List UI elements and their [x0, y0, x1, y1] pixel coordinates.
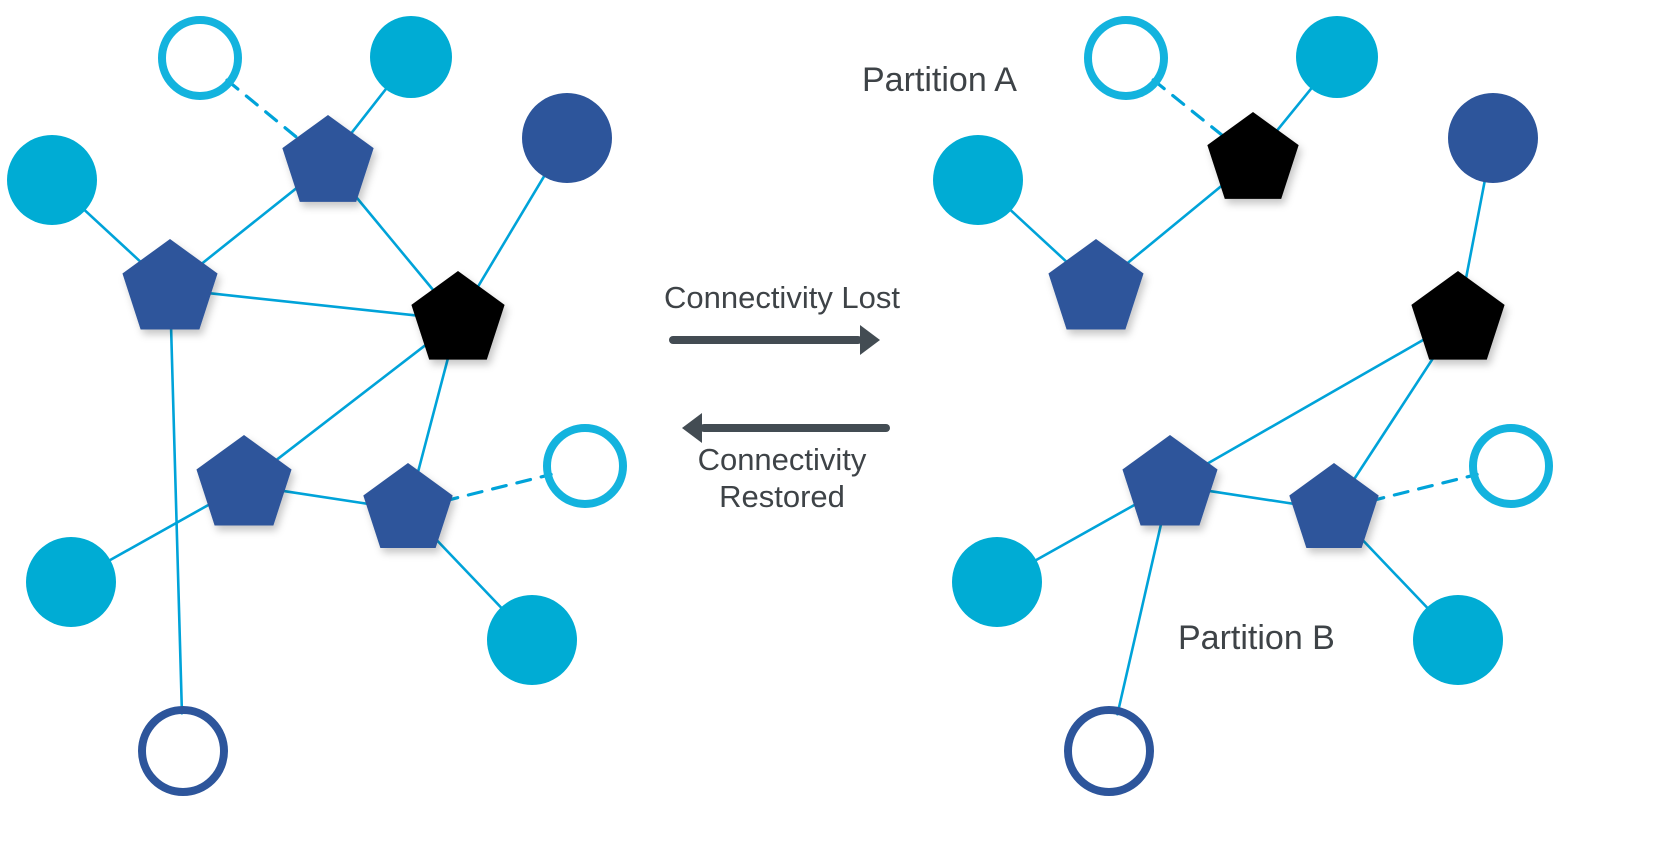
- offline-node-circle-navy[interactable]: [142, 710, 224, 792]
- active-link-edge: [478, 174, 546, 287]
- host-node-circle[interactable]: [487, 595, 577, 685]
- partition-leader-node-pentagon[interactable]: [1411, 271, 1504, 360]
- active-link-edge: [351, 87, 387, 133]
- inactive-link-edge: [227, 80, 299, 139]
- inactive-link-edge: [1370, 474, 1477, 501]
- active-link-edge: [352, 192, 433, 290]
- active-link-edge: [1204, 339, 1424, 465]
- inactive-link-edge: [444, 474, 551, 501]
- inactive-link-edge: [1153, 80, 1223, 136]
- host-node-circle[interactable]: [26, 537, 116, 627]
- host-node-circle-navy[interactable]: [522, 93, 612, 183]
- active-link-edge: [209, 293, 419, 316]
- active-link-edge: [1360, 537, 1430, 610]
- router-node-pentagon[interactable]: [1122, 435, 1217, 525]
- transition-arrows: [673, 325, 886, 443]
- active-link-edge: [434, 537, 504, 610]
- active-link-edge: [275, 344, 427, 461]
- network-partition-diagram: Connectivity Lost Connectivity Restored …: [0, 0, 1656, 856]
- active-link-edge: [1277, 86, 1313, 130]
- router-node-pentagon[interactable]: [363, 463, 452, 548]
- active-link-edge: [82, 208, 141, 262]
- router-node-pentagon[interactable]: [1289, 463, 1378, 548]
- offline-node-circle-navy[interactable]: [1068, 710, 1150, 792]
- right-network-nodes: [933, 16, 1549, 792]
- router-node-pentagon[interactable]: [122, 239, 217, 329]
- active-link-edge: [1008, 208, 1067, 262]
- offline-node-circle-cyan[interactable]: [547, 428, 623, 504]
- connectivity-lost-label: Connectivity Lost: [664, 280, 900, 315]
- active-link-edge: [201, 187, 298, 265]
- diagram-canvas: Connectivity Lost Connectivity Restored …: [0, 0, 1656, 856]
- router-node-pentagon[interactable]: [282, 115, 373, 202]
- router-node-pentagon[interactable]: [196, 435, 291, 525]
- partition-a-label: Partition A: [862, 61, 1017, 99]
- router-node-pentagon[interactable]: [1048, 239, 1143, 329]
- active-link-edge: [283, 491, 371, 504]
- offline-node-circle-cyan[interactable]: [1088, 20, 1164, 96]
- host-node-circle[interactable]: [370, 16, 452, 98]
- active-link-edge: [1209, 491, 1297, 504]
- connectivity-restored-arrow-head: [682, 413, 702, 443]
- left-network-nodes: [7, 16, 623, 792]
- host-node-circle[interactable]: [952, 537, 1042, 627]
- partition-leader-node-pentagon[interactable]: [1207, 112, 1298, 199]
- connectivity-lost-arrow-head: [860, 325, 880, 355]
- active-link-edge: [1465, 179, 1485, 282]
- connectivity-restored-label-line2: Restored: [719, 479, 845, 514]
- host-node-circle[interactable]: [1296, 16, 1378, 98]
- active-link-edge: [107, 504, 209, 561]
- active-link-edge: [1127, 184, 1224, 264]
- host-node-circle-navy[interactable]: [1448, 93, 1538, 183]
- partition-b-label: Partition B: [1178, 619, 1335, 657]
- partition-leader-node-pentagon[interactable]: [411, 271, 504, 360]
- active-link-edge: [417, 357, 448, 474]
- active-link-edge: [1117, 524, 1161, 715]
- active-link-edge: [1033, 504, 1135, 561]
- host-node-circle[interactable]: [1413, 595, 1503, 685]
- host-node-circle[interactable]: [933, 135, 1023, 225]
- offline-node-circle-cyan[interactable]: [1473, 428, 1549, 504]
- host-node-circle[interactable]: [7, 135, 97, 225]
- connectivity-restored-label-line1: Connectivity: [698, 442, 867, 477]
- offline-node-circle-cyan[interactable]: [162, 20, 238, 96]
